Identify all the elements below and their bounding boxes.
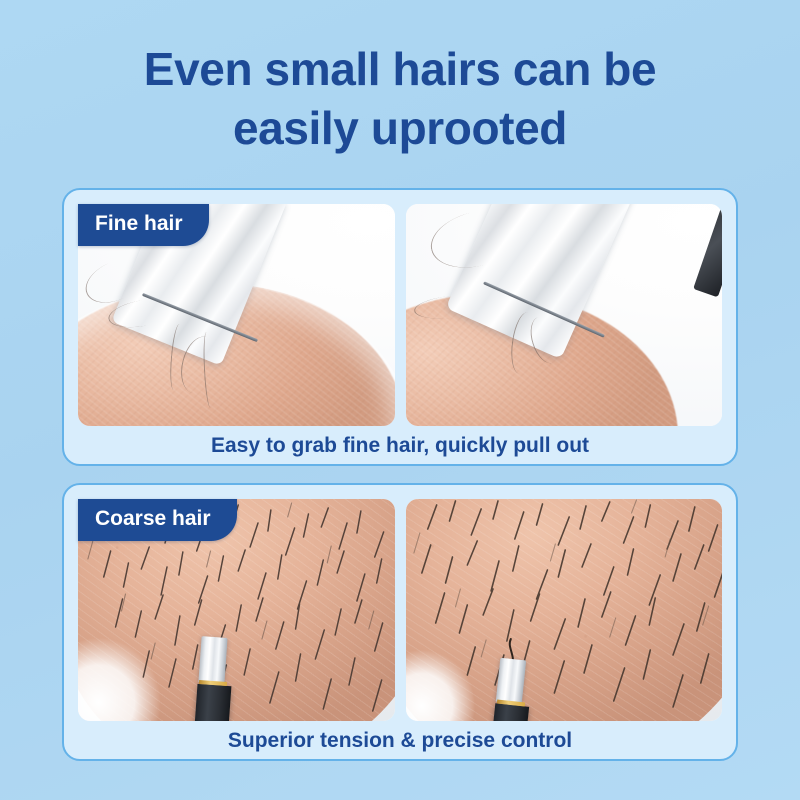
coarse-hair-panel-group: Coarse hair [78,499,722,721]
badge-coarse-hair: Coarse hair [78,499,237,541]
headline-line-2: easily uprooted [0,99,800,158]
stubble-svg [406,499,723,721]
coarse-hair-image-2 [406,499,723,721]
tweezer-handle [195,684,232,721]
card-coarse-hair: Coarse hair [62,483,738,761]
promo-page: Even small hairs can be easily uprooted … [0,0,800,800]
caption-coarse-hair: Superior tension & precise control [78,721,722,761]
fine-hair-image-2 [406,204,723,426]
page-title: Even small hairs can be easily uprooted [0,40,800,158]
badge-fine-hair: Fine hair [78,204,209,246]
tweezer-tip [198,636,227,684]
fine-hair-panel-group: Fine hair [78,204,722,426]
caption-fine-hair: Easy to grab fine hair, quickly pull out [78,426,722,466]
headline-line-1: Even small hairs can be [0,40,800,99]
card-fine-hair: Fine hair [62,188,738,466]
tweezer-tip [495,658,525,704]
stubble-field [406,499,723,721]
